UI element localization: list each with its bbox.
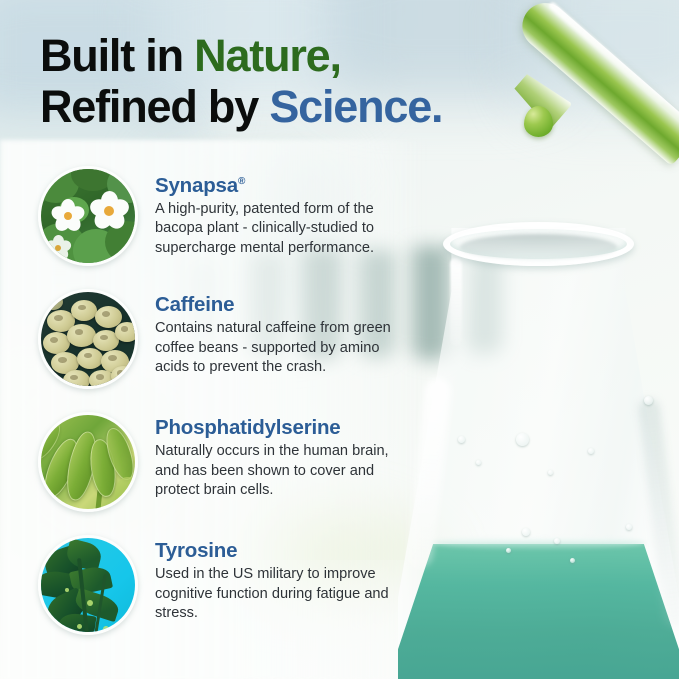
ingredient-description-caffeine: Contains natural caffeine from green cof… — [155, 319, 407, 378]
ingredient-item-synapsa: Synapsa® A high-purity, patented form of… — [38, 166, 438, 289]
registered-trademark-icon: ® — [238, 176, 245, 187]
water-droplet — [516, 433, 529, 446]
water-droplet — [626, 524, 632, 530]
flask-rim-inner — [460, 234, 617, 260]
ingredient-item-phosphatidylserine: Phosphatidylserine Naturally occurs in t… — [38, 412, 438, 535]
water-droplet — [506, 548, 511, 553]
flask-neck-highlight — [450, 258, 462, 346]
ingredient-text-tyrosine: Tyrosine Used in the US military to impr… — [155, 535, 407, 624]
ingredient-text-synapsa: Synapsa® A high-purity, patented form of… — [155, 166, 407, 259]
infographic-canvas: Built in Nature, Refined by Science. — [0, 0, 679, 679]
ingredient-name-text: Caffeine — [155, 293, 234, 316]
bacopa-flowers-thumbnail — [38, 166, 138, 266]
water-droplet — [548, 470, 553, 475]
ingredient-text-caffeine: Caffeine Contains natural caffeine from … — [155, 289, 407, 378]
ingredient-item-caffeine: Caffeine Contains natural caffeine from … — [38, 289, 438, 412]
ingredient-description-synapsa: A high-purity, patented form of the baco… — [155, 200, 407, 259]
flask-liquid-surface — [432, 537, 645, 549]
ingredient-name-text: Tyrosine — [155, 539, 237, 562]
ingredient-name-synapsa: Synapsa® — [155, 170, 407, 197]
ingredient-name-tyrosine: Tyrosine — [155, 539, 407, 562]
headline-text-refined-by: Refined by — [40, 81, 269, 132]
water-droplet — [522, 528, 530, 536]
seaweed-kelp-thumbnail — [38, 535, 138, 635]
water-droplet — [458, 436, 465, 443]
ingredient-name-phosphatidylserine: Phosphatidylserine — [155, 416, 407, 439]
ingredient-description-phosphatidylserine: Naturally occurs in the human brain, and… — [155, 442, 407, 501]
page-title: Built in Nature, Refined by Science. — [40, 30, 600, 132]
water-droplet — [644, 396, 653, 405]
headline-line-1: Built in Nature, — [40, 30, 600, 81]
soybean-pods-thumbnail — [38, 412, 138, 512]
ingredient-list: Synapsa® A high-purity, patented form of… — [38, 166, 438, 658]
water-droplet — [588, 448, 594, 454]
ingredient-text-phosphatidylserine: Phosphatidylserine Naturally occurs in t… — [155, 412, 407, 501]
headline-highlight-science: Science. — [269, 81, 442, 132]
water-droplet — [476, 460, 481, 465]
erlenmeyer-flask — [398, 228, 679, 679]
water-droplet — [554, 538, 560, 544]
water-droplet — [570, 558, 575, 563]
headline-text-built-in: Built in — [40, 30, 194, 81]
flask-green-liquid — [398, 544, 679, 679]
headline-line-2: Refined by Science. — [40, 81, 600, 132]
ingredient-description-tyrosine: Used in the US military to improve cogni… — [155, 565, 407, 624]
ingredient-name-text: Synapsa — [155, 174, 238, 197]
headline-highlight-nature: Nature, — [194, 30, 341, 81]
ingredient-name-text: Phosphatidylserine — [155, 416, 341, 439]
ingredient-name-caffeine: Caffeine — [155, 293, 407, 316]
ingredient-item-tyrosine: Tyrosine Used in the US military to impr… — [38, 535, 438, 658]
green-coffee-beans-thumbnail — [38, 289, 138, 389]
